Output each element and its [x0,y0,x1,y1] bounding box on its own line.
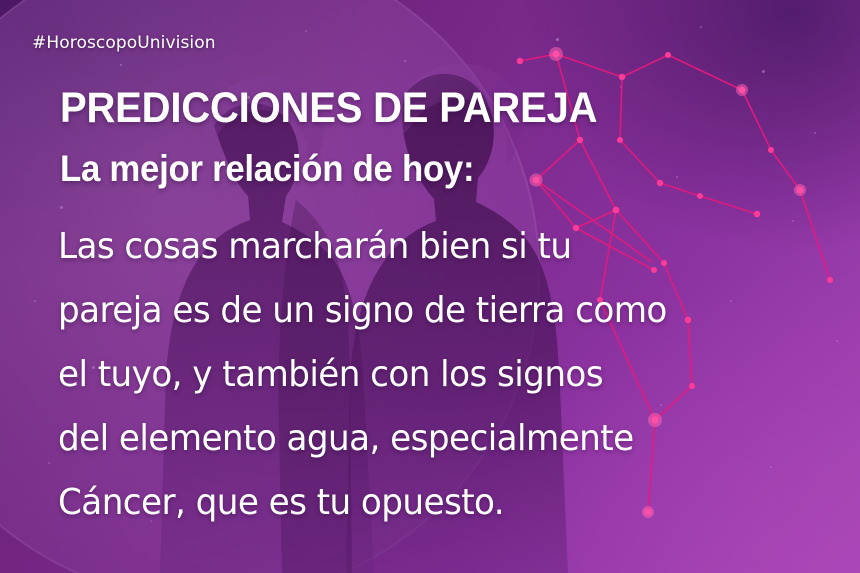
body-text: Las cosas marcharán bien si tu pareja es… [58,215,858,535]
page-subtitle: La mejor relación de hoy: [60,148,474,190]
body-text-line: del elemento agua, especialmente [58,407,818,471]
body-text-line: pareja es de un signo de tierra como [58,279,818,343]
page-title: PREDICCIONES DE PAREJA [60,84,597,133]
body-text-line: Las cosas marcharán bien si tu [58,215,818,279]
body-text-line: Cáncer, que es tu opuesto. [58,471,818,535]
horoscope-card: #HoroscopoUnivision PREDICCIONES DE PARE… [0,0,860,573]
hashtag-label: #HoroscopoUnivision [32,33,216,53]
body-text-line: el tuyo, y también con los signos [58,343,818,407]
